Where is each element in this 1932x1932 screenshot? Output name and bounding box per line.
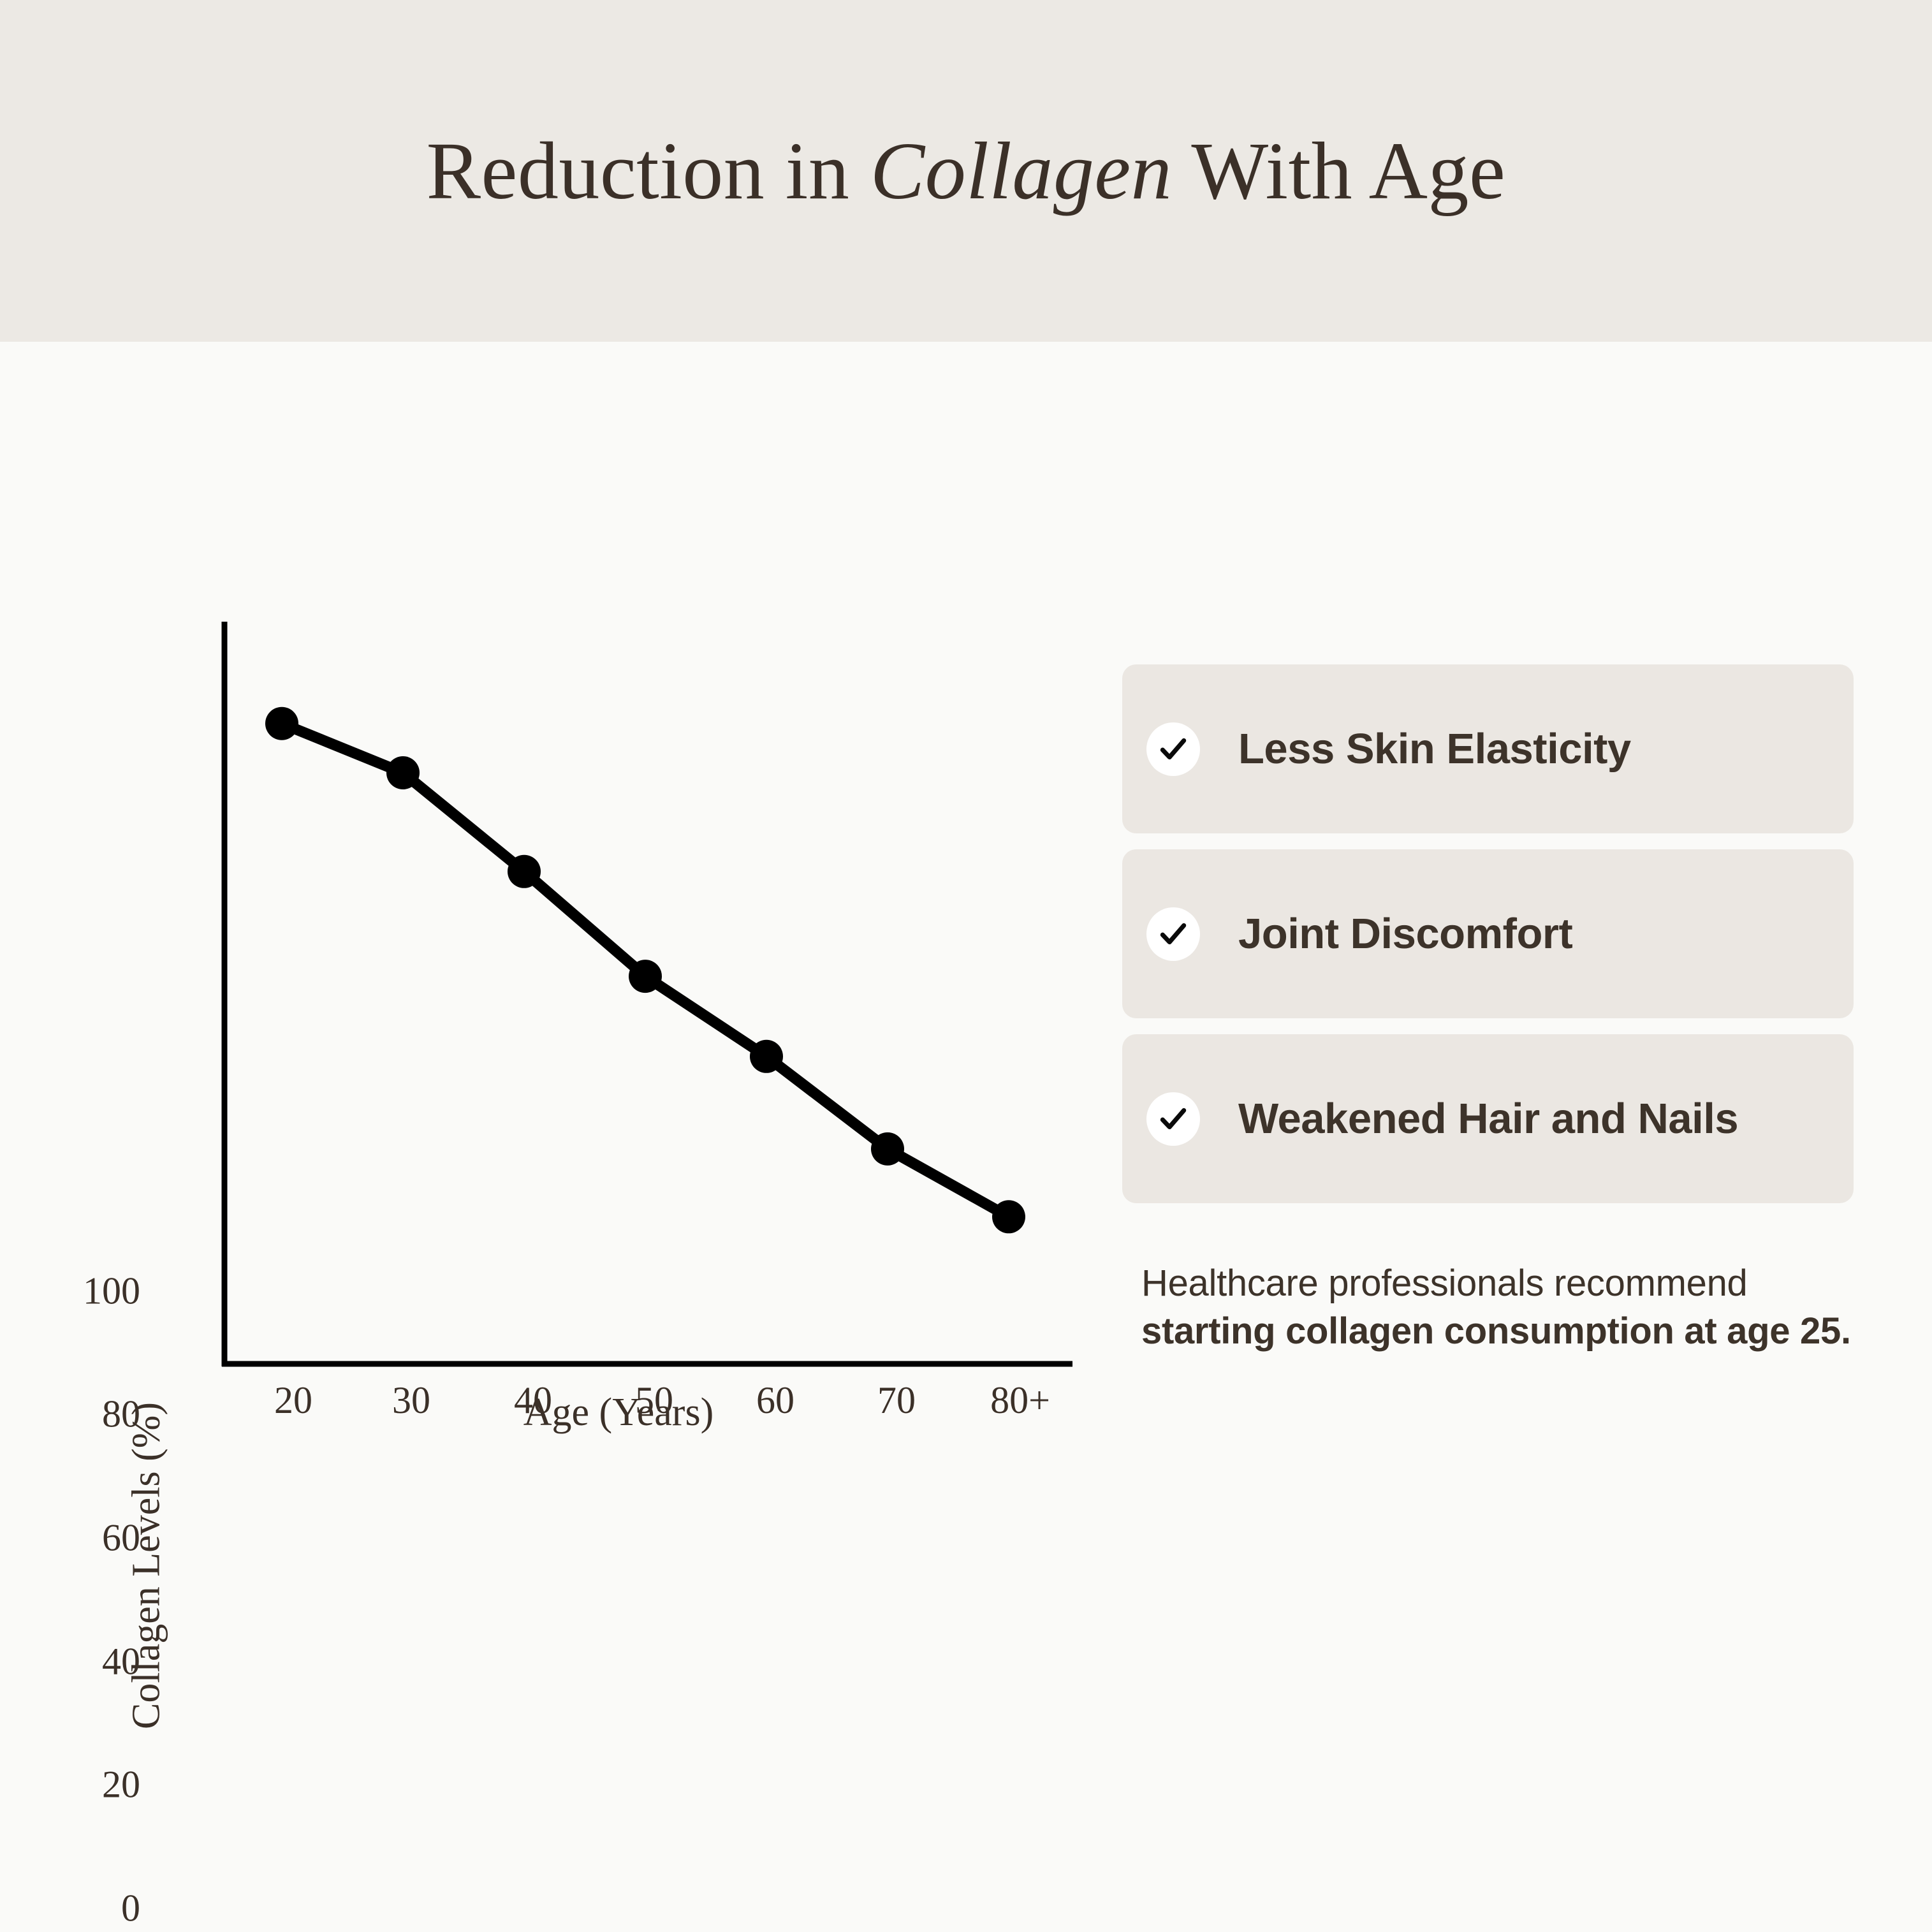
- series-markers: [265, 707, 1025, 1234]
- recommendation-note: Healthcare professionals recommend start…: [1141, 1259, 1906, 1356]
- y-tick-100: 100: [13, 1270, 140, 1314]
- x-tick-70: 70: [833, 1379, 960, 1423]
- benefit-card-joint-discomfort[interactable]: Joint Discomfort: [1122, 849, 1854, 1018]
- page-title: Reduction in Collagen With Age: [0, 0, 1932, 342]
- recommendation-note-line1: Healthcare professionals recommend: [1141, 1259, 1906, 1307]
- benefit-card-weakened-hair-and-nails[interactable]: Weakened Hair and Nails: [1122, 1034, 1854, 1203]
- y-tick-60: 60: [13, 1516, 140, 1560]
- benefit-label: Less Skin Elasticity: [1238, 724, 1631, 773]
- recommendation-note-line2: starting collagen consumption at age 25.: [1141, 1307, 1906, 1355]
- benefit-card-less-skin-elasticity[interactable]: Less Skin Elasticity: [1122, 664, 1854, 833]
- x-axis-label: Age (Years): [395, 1390, 842, 1435]
- x-tick-20: 20: [230, 1379, 357, 1423]
- check-icon: [1146, 1092, 1200, 1146]
- y-axis-label: Collagen Levels (%): [124, 1343, 170, 1789]
- y-tick-20: 20: [13, 1763, 140, 1807]
- benefits-list: Less Skin Elasticity Joint Discomfort We…: [1122, 664, 1854, 1219]
- x-tick-80plus: 80+: [956, 1379, 1084, 1423]
- data-point-70: [871, 1132, 904, 1166]
- page-title-prefix: Reduction in: [427, 124, 870, 218]
- data-point-40: [508, 855, 541, 888]
- check-icon: [1146, 907, 1200, 961]
- data-point-20: [265, 707, 298, 740]
- data-point-80+: [992, 1200, 1025, 1233]
- y-tick-0: 0: [13, 1887, 140, 1931]
- page-title-emphasis: Collagen: [870, 124, 1172, 218]
- chart-plot-area: [0, 574, 1122, 1435]
- benefit-label: Weakened Hair and Nails: [1238, 1094, 1738, 1143]
- benefit-label: Joint Discomfort: [1238, 909, 1572, 958]
- y-tick-80: 80: [13, 1393, 140, 1437]
- data-point-30: [386, 756, 420, 789]
- data-point-50: [629, 960, 662, 993]
- data-point-60: [750, 1040, 783, 1073]
- y-tick-40: 40: [13, 1640, 140, 1684]
- page-title-suffix: With Age: [1172, 124, 1505, 218]
- check-icon: [1146, 722, 1200, 776]
- collagen-line-chart: 100 80 60 40 20 0 20 30 40 50 60 70 80+ …: [0, 574, 1122, 1530]
